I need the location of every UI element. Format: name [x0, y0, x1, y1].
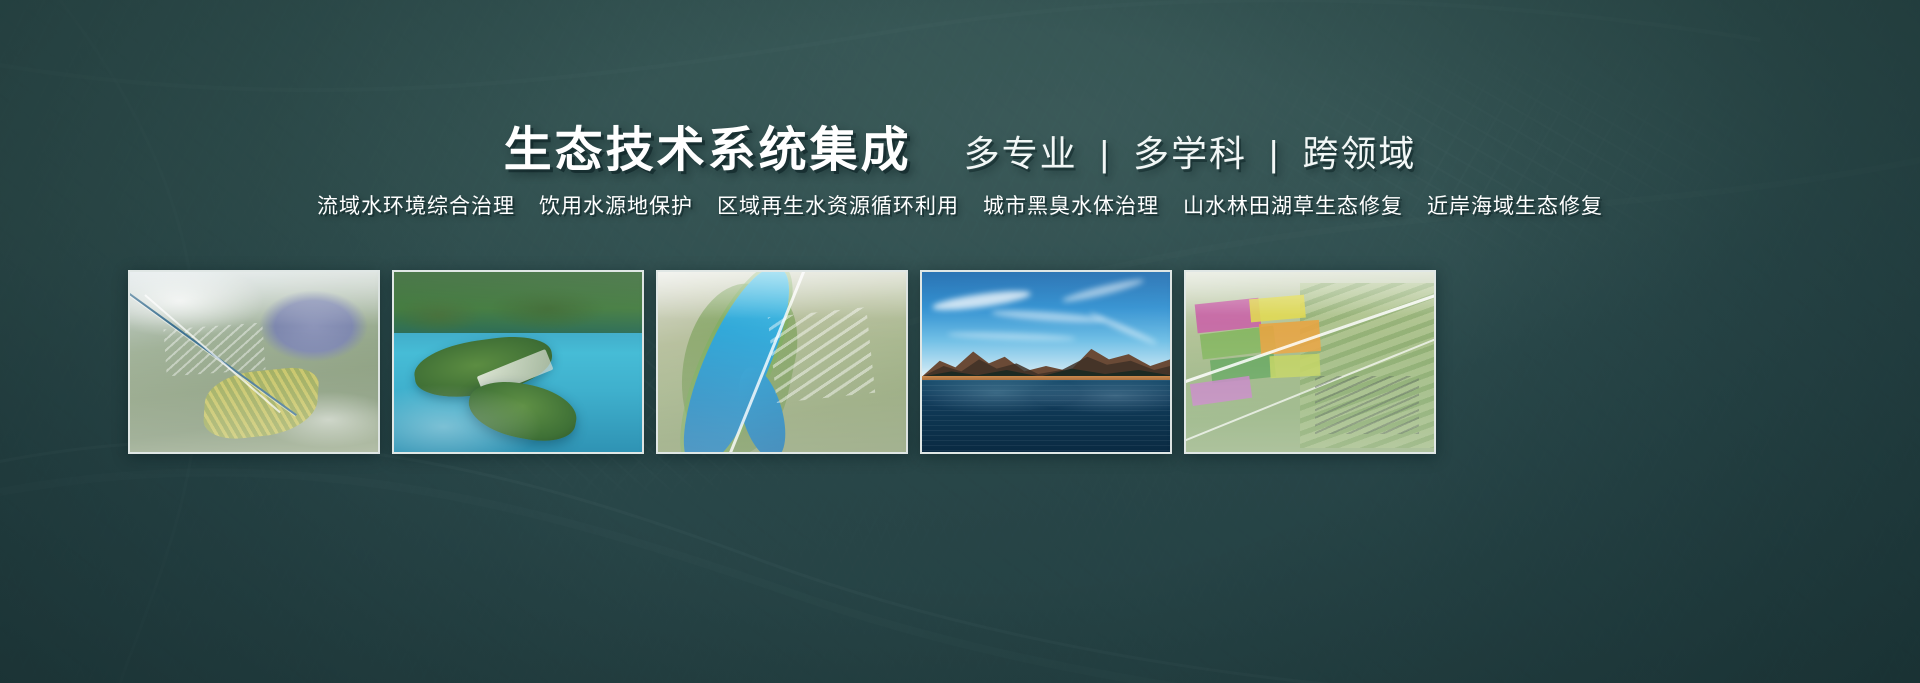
tagline-separator-2: |	[1259, 133, 1290, 174]
atmosphere-haze	[658, 272, 906, 452]
headline-row: 生态技术系统集成 多专业 | 多学科 | 跨领域	[0, 110, 1920, 180]
tagline-separator-1: |	[1090, 133, 1121, 174]
service-item-5: 山水林田湖草生态修复	[1183, 190, 1403, 220]
service-item-4: 城市黑臭水体治理	[983, 190, 1159, 220]
mountain-range	[922, 337, 1170, 377]
service-item-2: 饮用水源地保护	[539, 190, 693, 220]
watershed-plain-image	[130, 272, 378, 452]
atmosphere-haze	[1186, 272, 1434, 452]
tagline-part-1: 多专业	[964, 133, 1078, 174]
service-item-3: 区域再生水资源循环利用	[717, 190, 959, 220]
service-item-6: 近岸海域生态修复	[1427, 190, 1603, 220]
tagline-part-2: 多学科	[1133, 133, 1247, 174]
service-item-1: 流域水环境综合治理	[317, 190, 515, 220]
water-reflection	[922, 380, 1170, 452]
river-corridor-image	[658, 272, 906, 452]
tagline: 多专业 | 多学科 | 跨领域	[964, 125, 1417, 177]
project-thumbnail-strip	[128, 270, 1436, 454]
tagline-part-3: 跨领域	[1302, 133, 1416, 174]
agricultural-patchwork-image	[1186, 272, 1434, 452]
eco-technology-banner: 生态技术系统集成 多专业 | 多学科 | 跨领域 流域水环境综合治理 饮用水源地…	[0, 0, 1920, 683]
thumbnail-agricultural-patchwork-plan[interactable]	[1184, 270, 1436, 454]
atmosphere-haze	[130, 272, 378, 452]
water-shine	[394, 272, 642, 452]
mountain-lake-image	[922, 272, 1170, 452]
thumbnail-watershed-plain-aerial[interactable]	[128, 270, 380, 454]
forested-islands-image	[394, 272, 642, 452]
thumbnail-mountain-lake-reflection[interactable]	[920, 270, 1172, 454]
main-title: 生态技术系统集成	[504, 110, 912, 180]
thumbnail-river-corridor-farmland[interactable]	[656, 270, 908, 454]
thumbnail-forested-islands-lake[interactable]	[392, 270, 644, 454]
service-list: 流域水环境综合治理 饮用水源地保护 区域再生水资源循环利用 城市黑臭水体治理 山…	[0, 190, 1920, 220]
